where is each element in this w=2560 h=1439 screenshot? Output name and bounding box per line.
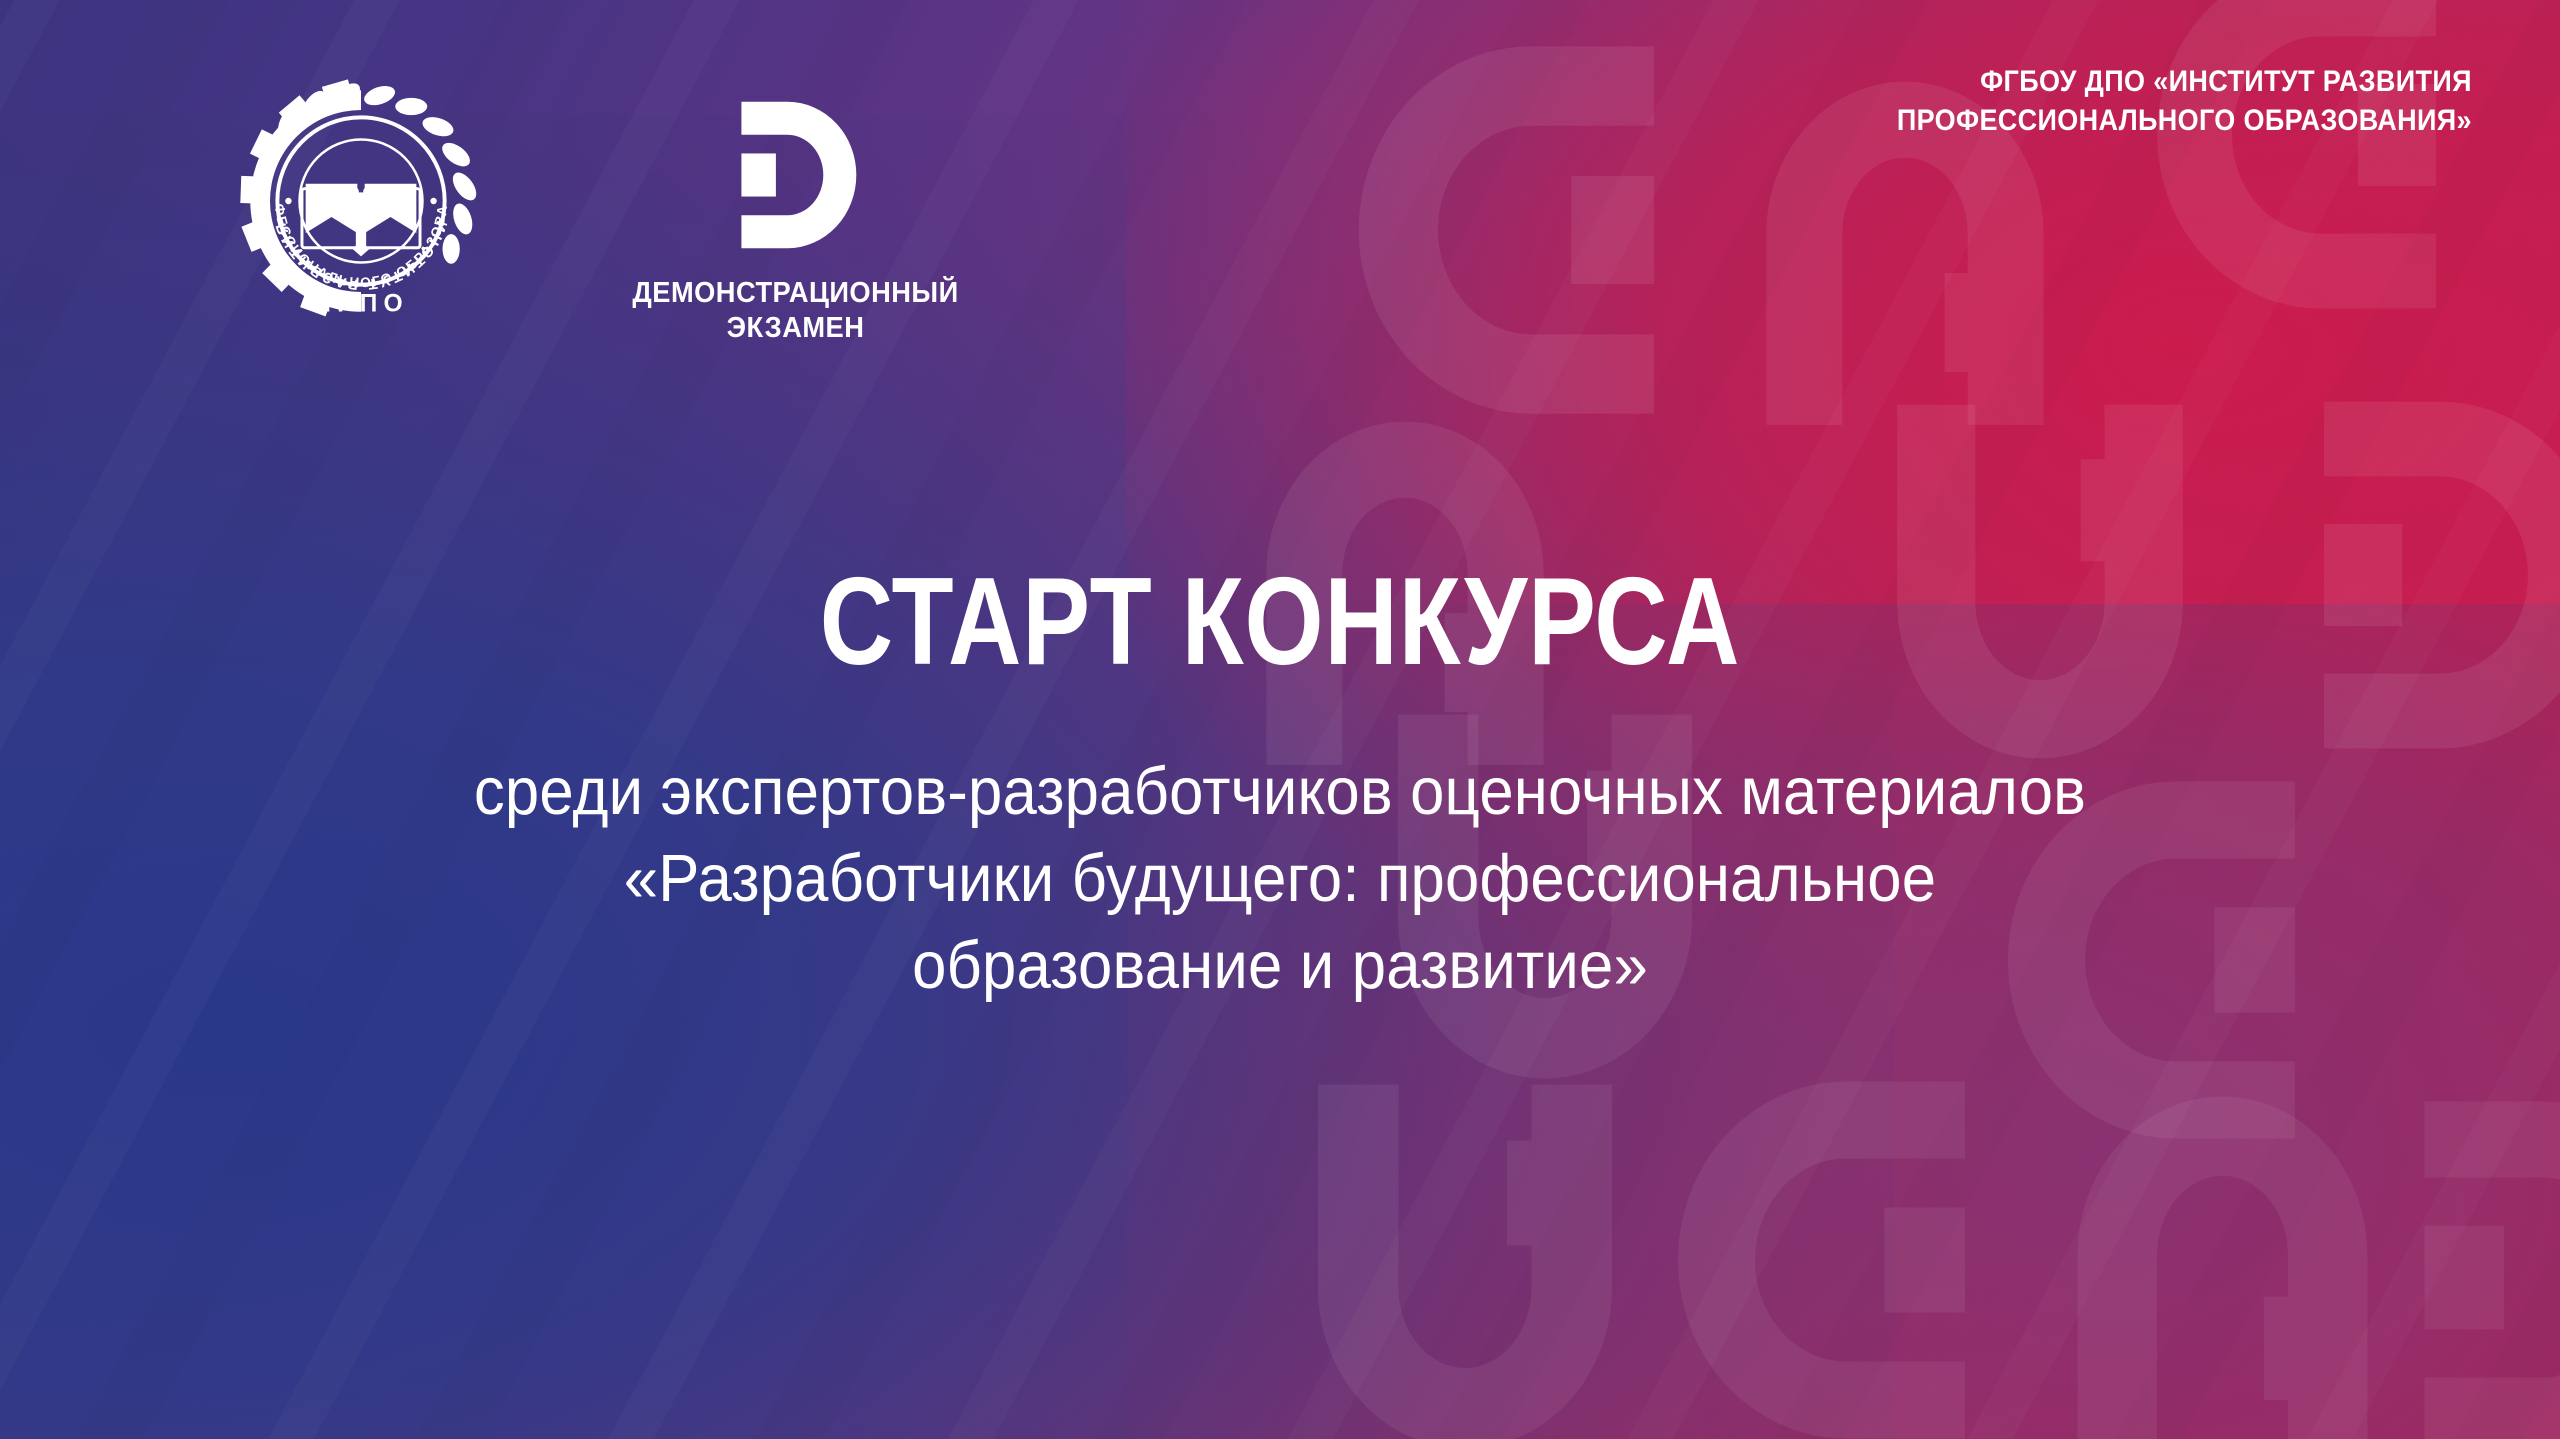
watermark-d-mirrored (1330, 30, 1690, 430)
watermark-d-mark (2390, 1080, 2560, 1439)
poster-canvas: ФГБОУ ДПО «ИНСТИТУТ РАЗВИТИЯ ПРОФЕССИОНА… (0, 0, 2560, 1439)
page-title: СТАРТ КОНКУРСА (345, 560, 2215, 684)
watermark-d-mirrored (2130, 0, 2470, 330)
page-subtitle-line2: «Разработчики будущего: профессиональное (231, 835, 2329, 922)
page-subtitle: среди экспертов-разработчиков оценочных … (231, 748, 2329, 1009)
demonstration-exam-logo: ДЕМОНСТРАЦИОННЫЙ ЭКЗАМЕН (622, 78, 969, 347)
watermark-u-notched (1290, 1070, 1640, 1439)
demonstration-exam-line1: ДЕМОНСТРАЦИОННЫЙ (632, 276, 958, 311)
page-subtitle-line1: среди экспертов-разработчиков оценочных … (231, 748, 2329, 835)
organization-name: ФГБОУ ДПО «ИНСТИТУТ РАЗВИТИЯ ПРОФЕССИОНА… (1897, 62, 2472, 140)
logo-lockup: ИНСТИТУТ РАЗВИТИЯ ПРОФЕССИОНАЛЬНОГО ОБРА… (238, 78, 969, 347)
main-copy: СТАРТ КОНКУРСА среди экспертов-разработч… (0, 560, 2560, 1009)
organization-name-line2: ПРОФЕССИОНАЛЬНОГО ОБРАЗОВАНИЯ» (1897, 101, 2472, 140)
demonstration-exam-label: ДЕМОНСТРАЦИОННЫЙ ЭКЗАМЕН (632, 276, 958, 347)
emblem-acronym: ИРПО (313, 291, 409, 318)
demonstration-exam-d-icon (717, 96, 875, 254)
irpo-emblem-icon: ИНСТИТУТ РАЗВИТИЯ ПРОФЕССИОНАЛЬНОГО ОБРА… (238, 78, 484, 324)
demonstration-exam-line2: ЭКЗАМЕН (632, 311, 958, 346)
watermark-arch (2050, 1075, 2395, 1439)
page-subtitle-line3: образование и развитие» (231, 922, 2329, 1009)
watermark-d-mirrored (1650, 1060, 2000, 1439)
organization-name-line1: ФГБОУ ДПО «ИНСТИТУТ РАЗВИТИЯ (1897, 62, 2472, 101)
